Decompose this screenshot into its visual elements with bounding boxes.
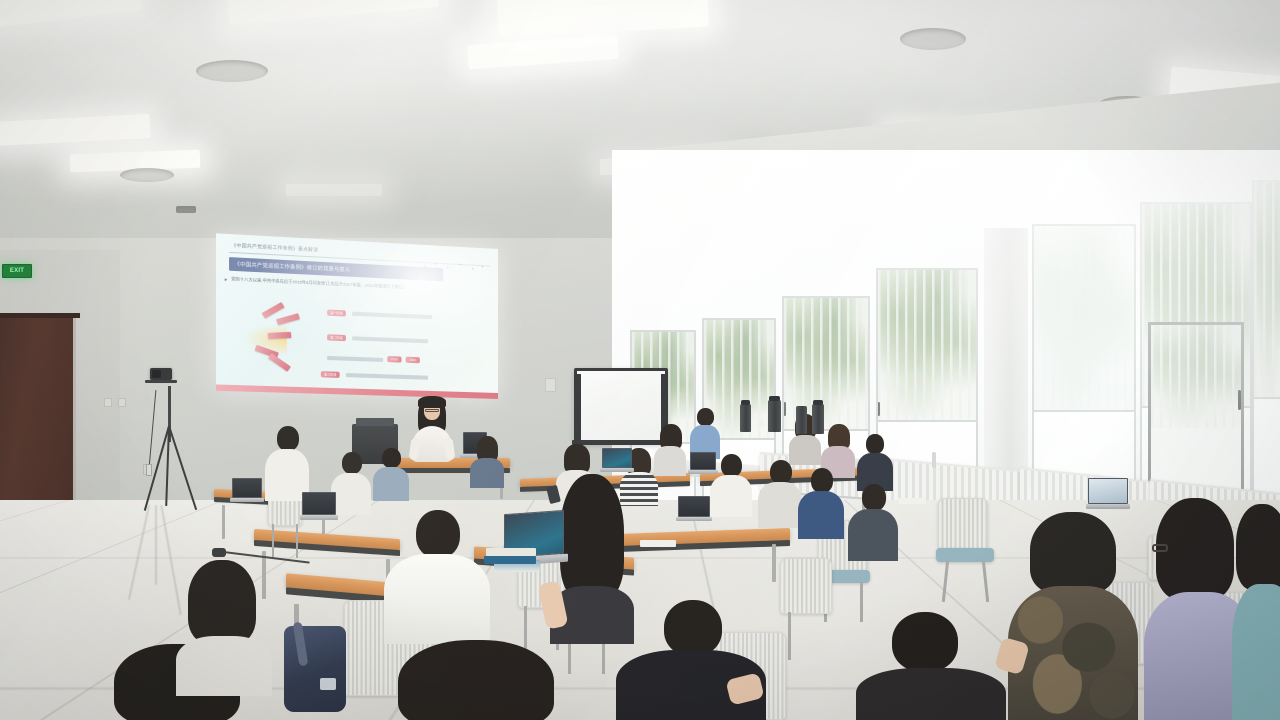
ceiling-light-panel	[286, 184, 382, 196]
thermos-cap	[769, 396, 780, 401]
thermos-flask[interactable]	[796, 406, 807, 434]
glass-door-handle[interactable]	[1238, 390, 1241, 410]
attendee-shoulders	[848, 509, 898, 561]
door-header	[0, 313, 80, 318]
thermos-flask[interactable]	[812, 404, 824, 434]
ceiling-vent	[196, 60, 268, 82]
wall-socket	[104, 398, 112, 407]
window-handle[interactable]	[877, 402, 880, 416]
attendee	[820, 424, 856, 474]
chair-legs	[272, 524, 274, 558]
wall-switch[interactable]	[545, 378, 556, 392]
presenter-arm	[444, 437, 456, 460]
chair-legs	[296, 524, 298, 558]
attendee-black-tee-foreground	[616, 600, 766, 720]
desk-leg	[222, 505, 225, 539]
chair[interactable]	[780, 558, 832, 614]
chair-legs	[788, 612, 791, 660]
attendee-head	[342, 452, 362, 474]
slide-inline-tag: 2021	[406, 357, 420, 364]
attendee-shoulders	[1232, 584, 1280, 720]
slide-callout-text	[352, 336, 428, 343]
attendee-head	[382, 448, 401, 468]
attendee-head	[862, 484, 886, 511]
attendee-head	[811, 468, 833, 493]
video-camera	[150, 368, 172, 380]
backpack-patch	[320, 678, 336, 690]
notebook[interactable]	[898, 498, 926, 504]
attendee-hair	[560, 474, 624, 600]
av-equipment-unit	[356, 418, 394, 426]
attendee-shoulders	[384, 554, 490, 644]
camera-plate	[145, 380, 177, 383]
tripod-cable	[149, 390, 157, 468]
attendee	[688, 408, 722, 458]
attendee-shoulders	[798, 491, 844, 539]
attendee-shoulders	[1008, 586, 1138, 720]
notebook[interactable]	[640, 540, 676, 547]
empty-chair[interactable]	[938, 498, 988, 550]
paper-cup[interactable]	[757, 418, 764, 427]
slide-diagram-card	[276, 313, 300, 325]
slide-diagram-card	[261, 302, 284, 319]
slide-callout-text	[327, 356, 383, 362]
chair-backrest	[938, 498, 988, 550]
attendee-laptop-open[interactable]	[676, 496, 712, 524]
attendee-head	[892, 612, 958, 672]
slide-bullet-marker: ▸	[225, 277, 228, 283]
attendee-head	[416, 510, 460, 558]
window-security-bars	[1151, 325, 1241, 428]
laptop-screen	[690, 452, 716, 470]
whiteboard-leg	[576, 374, 581, 440]
projection-screen: 《中国共产党巡视工作条例》重点解读 《中国共产党巡视工作条例》修订的背景与意义 …	[216, 233, 498, 399]
laptop-keyboard[interactable]	[600, 468, 634, 472]
book-stack[interactable]	[484, 556, 536, 564]
attendee-head	[664, 600, 722, 656]
laptop-screen	[678, 496, 710, 517]
thermos-cap	[741, 400, 750, 405]
exit-sign-icon: EXIT	[2, 264, 32, 278]
attendee-hair	[188, 560, 256, 644]
laptop-keyboard[interactable]	[688, 470, 718, 474]
attendee-bottom-right	[856, 612, 1006, 720]
attendee-head	[697, 408, 714, 426]
attendee-left-mid	[176, 560, 272, 690]
thermos-flask[interactable]	[740, 404, 751, 432]
attendee	[796, 468, 846, 536]
laptop-keyboard[interactable]	[676, 517, 712, 521]
attendee-shoulders	[176, 636, 272, 696]
laptop-keyboard[interactable]	[1086, 504, 1130, 509]
chair-backrest	[780, 558, 832, 614]
window-security-bars	[1034, 226, 1134, 410]
attendee-head	[866, 434, 884, 454]
attendee-head	[721, 454, 742, 477]
attendee-shoulders	[710, 475, 752, 517]
classroom-scene-photo: EXIT	[0, 0, 1280, 720]
slide-diagram	[244, 304, 306, 371]
ceiling-vent	[900, 28, 966, 50]
window-unit	[1252, 180, 1280, 530]
attendee-hair	[1236, 504, 1280, 590]
slide-callout-text	[346, 373, 428, 380]
projected-slide: 《中国共产党巡视工作条例》重点解读 《中国共产党巡视工作条例》修订的背景与意义 …	[216, 233, 498, 399]
thermos-cap	[813, 400, 823, 405]
slide-body-text: 党的十八大以来,中共中央先后于2015年8月印发修订,先后于2017年版、202…	[231, 276, 488, 294]
attendee-camo-jacket	[1008, 512, 1138, 720]
attendee-white-shirt-center	[382, 510, 492, 640]
attendee	[470, 436, 504, 484]
desk-leg	[772, 544, 776, 582]
attendee-laptop-open[interactable]	[300, 492, 338, 522]
laptop-keyboard[interactable]	[230, 498, 264, 502]
radiator-pipe	[932, 452, 936, 468]
laptop-screen	[302, 492, 336, 515]
attendee-shoulders	[856, 668, 1006, 720]
laptop-screen	[1088, 478, 1128, 504]
slide-callout-chip: 第二阶段	[327, 334, 346, 341]
book-stack[interactable]	[486, 548, 536, 556]
attendee-hair	[398, 640, 554, 720]
attendee-laptop-open[interactable]	[688, 452, 718, 476]
classroom-door[interactable]	[0, 313, 76, 528]
slide-callout-chip: 第三阶段	[321, 371, 340, 378]
slide-diagram-card	[268, 353, 291, 371]
attendee-glasses-icon	[1152, 544, 1168, 552]
attendee-shoulders	[470, 458, 504, 488]
chair-seat[interactable]	[936, 548, 994, 562]
attendee	[372, 448, 410, 500]
laptop-screen	[602, 448, 632, 468]
slide-callout-text	[352, 312, 432, 320]
attendee	[264, 426, 310, 500]
attendee	[846, 484, 900, 558]
attendee-laptop-open[interactable]	[600, 448, 634, 474]
attendee-right-edge	[1236, 504, 1280, 720]
tripod-foot	[212, 548, 226, 557]
presenter-hair-front	[418, 396, 446, 408]
slide-diagram-card	[268, 332, 292, 339]
attendee-shoulders	[373, 467, 409, 501]
slide-inline-tag: 2015	[387, 356, 401, 363]
presenter	[404, 396, 460, 462]
ceiling-speaker	[176, 206, 196, 213]
laptop-keyboard[interactable]	[300, 515, 338, 520]
tripod-leg	[168, 426, 197, 510]
ceiling-vent	[120, 168, 174, 182]
attendee-laptop-open[interactable]	[230, 478, 264, 504]
attendee-laptop-open[interactable]	[1086, 478, 1130, 512]
camera-lens-icon	[152, 370, 161, 378]
attendee	[856, 434, 894, 490]
window-security-bars	[878, 270, 976, 420]
presenter-glasses-icon	[425, 409, 439, 412]
laptop-screen	[232, 478, 262, 498]
attendee-hair	[1030, 512, 1116, 594]
attendee-head	[770, 460, 792, 484]
slide-callout-chip: 第一阶段	[327, 310, 346, 317]
thermos-flask[interactable]	[768, 400, 781, 432]
backpack[interactable]	[284, 626, 346, 712]
window-handle[interactable]	[783, 402, 786, 416]
attendee-head	[277, 426, 299, 451]
window-security-bars	[1254, 182, 1280, 397]
attendee-bottom-center	[388, 640, 568, 720]
tripod-remote	[146, 464, 152, 476]
tripod-reflection	[155, 505, 157, 585]
camera-tripod	[120, 368, 220, 513]
